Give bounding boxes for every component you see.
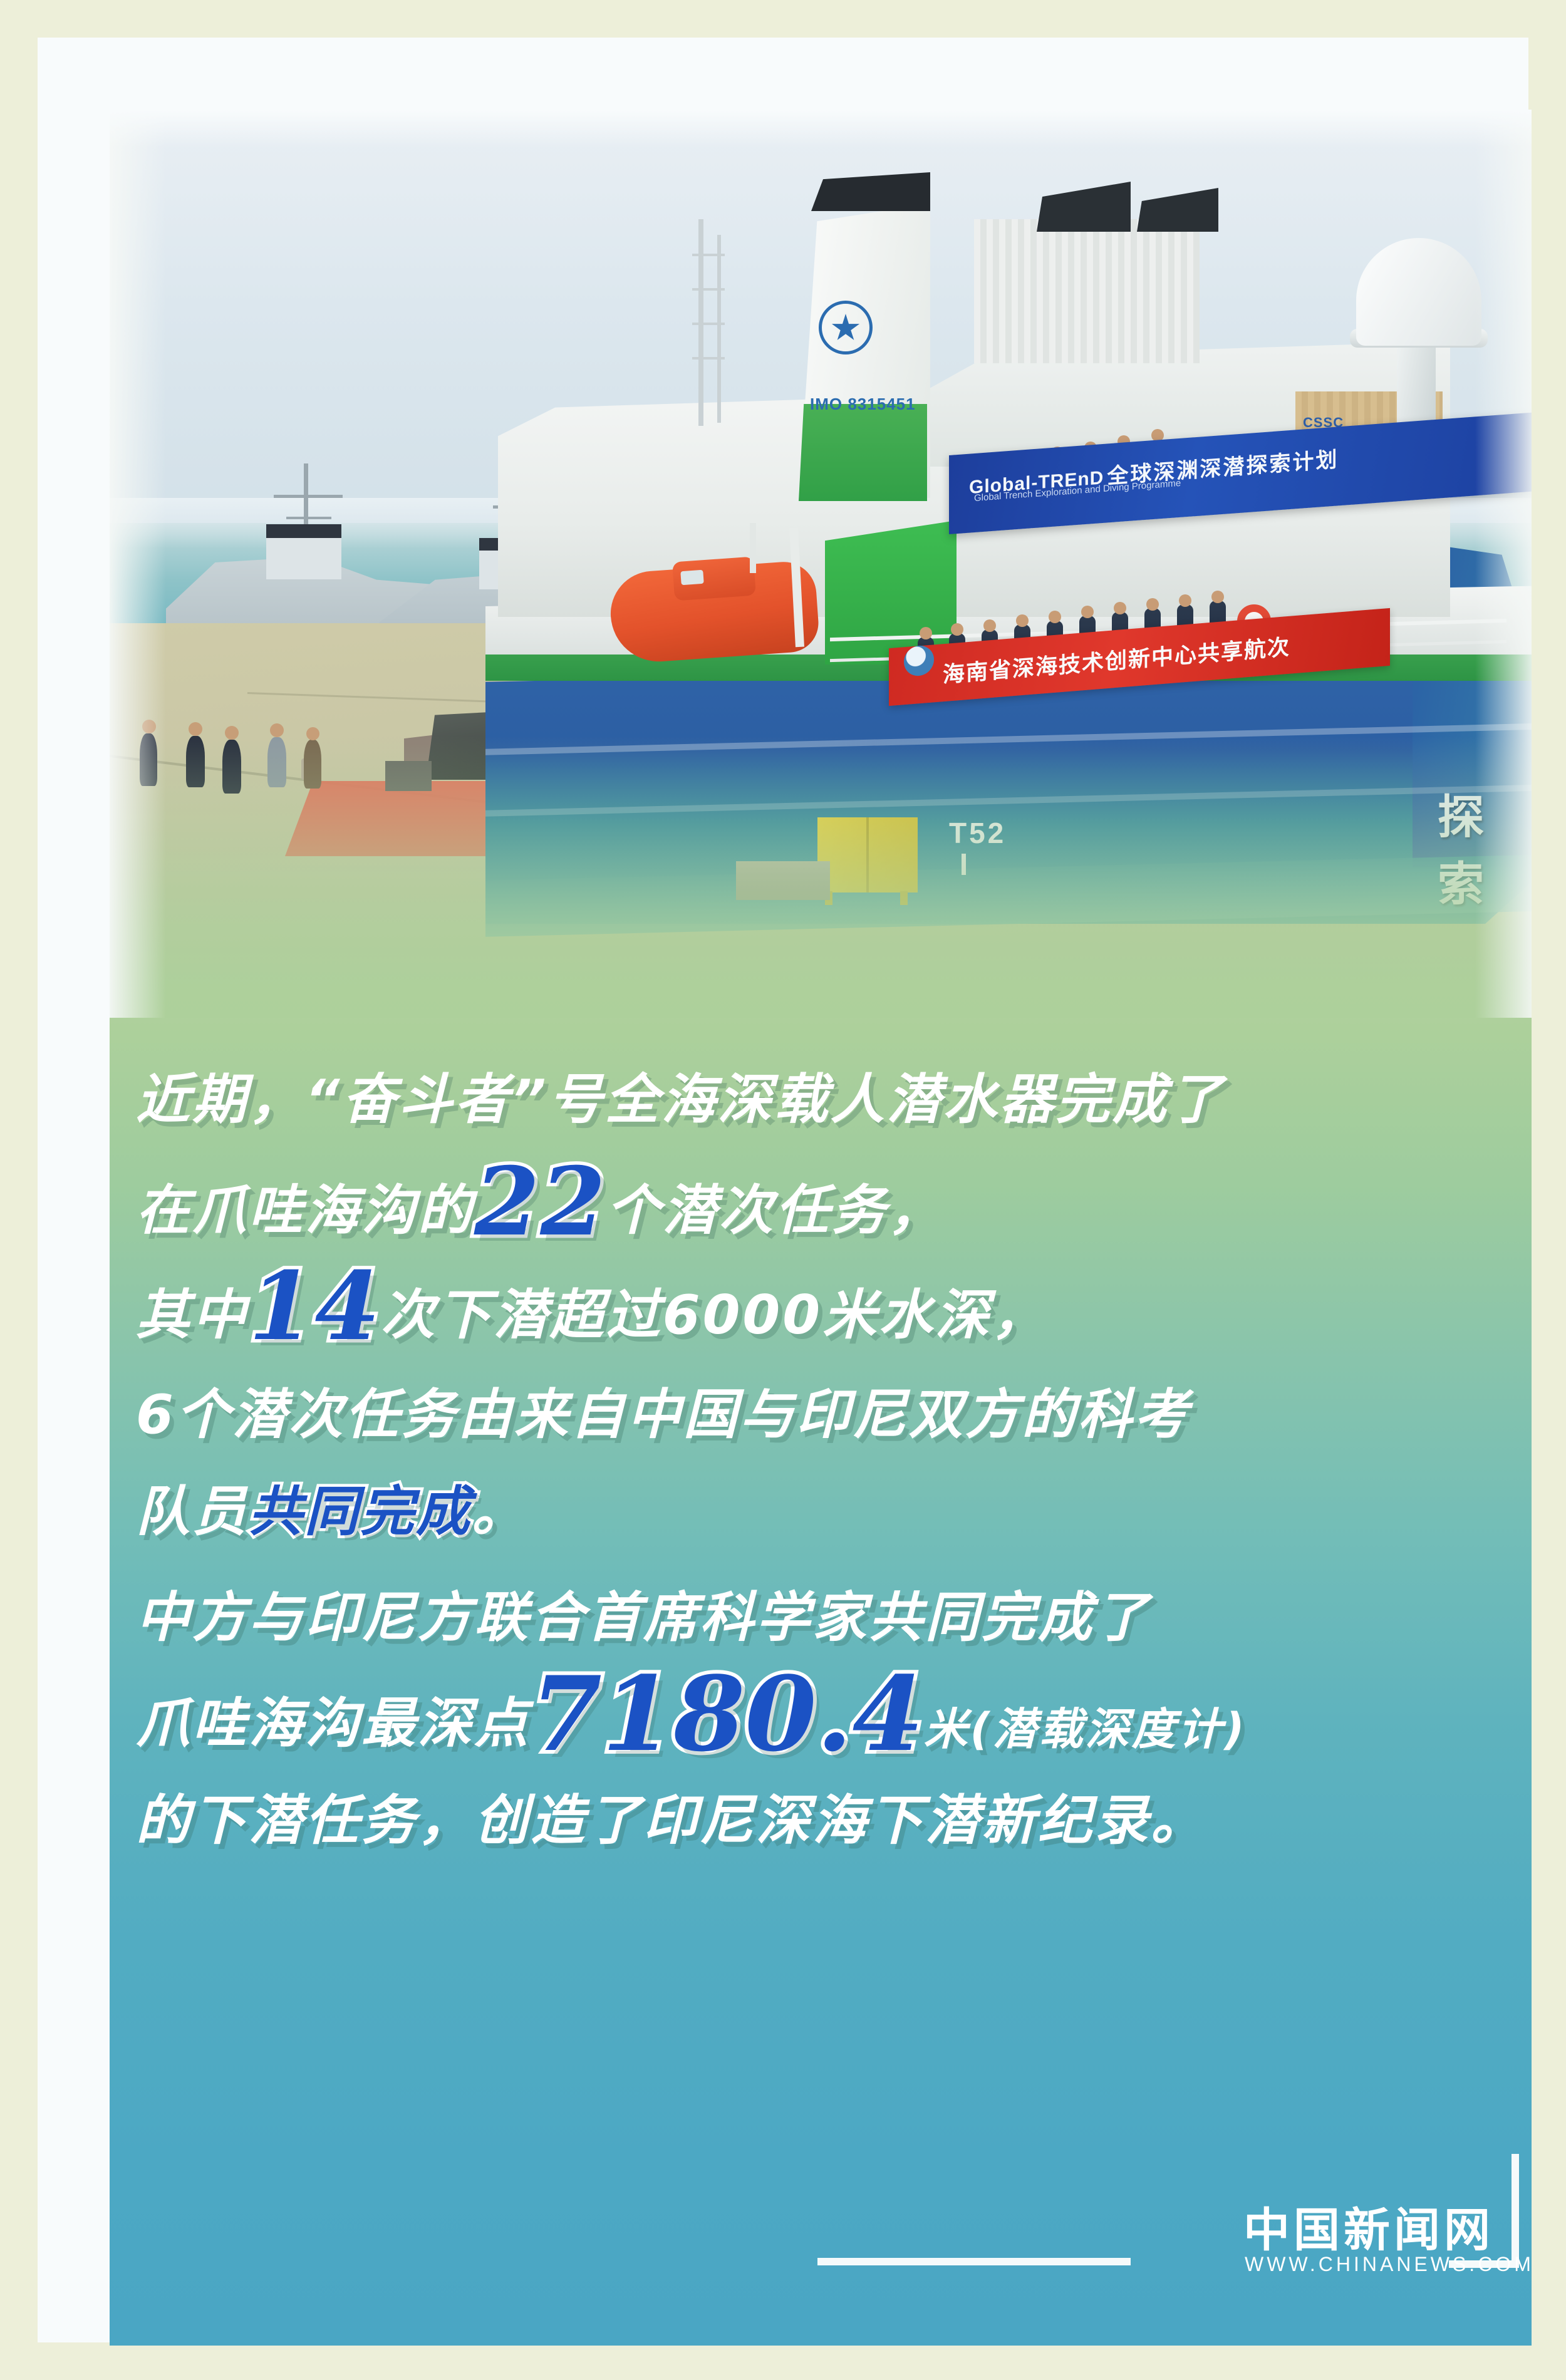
crew-head: [1016, 614, 1029, 627]
person-1-head: [189, 722, 202, 736]
logo-url: WWW.CHINANEWS.COM: [1245, 2253, 1532, 2276]
hero-photo: 探 索 T52 CSSC: [110, 110, 1532, 1018]
text-line-6: 中方与印尼方联合首席科学家共同完成了: [110, 1573, 1532, 1652]
chinanews-logo[interactable]: 中国新闻网 WWW.CHINANEWS.COM: [1168, 2183, 1519, 2302]
crew-head: [983, 619, 996, 632]
lifeboat-davit-arm: [750, 523, 756, 573]
text-line-2-prefix: 在爪哇海沟的: [136, 1166, 474, 1244]
logo-rule-left: [817, 2258, 1131, 2265]
crew-head: [1114, 602, 1126, 614]
mast-rung-4: [692, 357, 725, 360]
text-line-7: 爪哇海沟最深点 7180.4 米(潜载深度计): [110, 1670, 1532, 1757]
text-line-5-highlight: 共同完成: [249, 1467, 472, 1546]
ship-bridge-top-1: [266, 524, 341, 538]
deck-container-white: [974, 219, 1200, 363]
stat-max-depth: 7180.4: [531, 1670, 924, 1757]
ship-mast-yard-1: [274, 495, 343, 498]
superstructure-green-panel: [825, 520, 957, 665]
crew-head: [1179, 594, 1191, 607]
text-line-5: 队员 共同完成 。: [110, 1467, 1532, 1546]
poster-canvas: 探 索 T52 CSSC: [110, 110, 1532, 2346]
stat-deep-dive-count: 14: [249, 1265, 381, 1349]
ship-mast-yard-1b: [286, 517, 331, 519]
logo-rule-right-vertical: [1512, 2154, 1519, 2268]
text-line-2: 在爪哇海沟的 22 个潜次任务，: [110, 1160, 1532, 1244]
photo-right-fade: [1475, 110, 1532, 1018]
mast-rung-2: [692, 288, 725, 291]
text-line-5-suffix: 。: [472, 1467, 528, 1546]
foremast-secondary: [717, 235, 721, 423]
crew-head: [1211, 591, 1224, 603]
body-text-block: 近期，“奋斗者”号全海深载人潜水器完成了 在爪哇海沟的 22 个潜次任务， 其中…: [110, 1055, 1532, 1855]
lifeboat-window: [680, 570, 703, 585]
mast-rung-3: [692, 323, 725, 325]
stat-dive-count: 22: [474, 1160, 606, 1244]
crew-head: [1081, 606, 1094, 618]
crew-head: [951, 623, 963, 636]
logo-name: 中国新闻网: [1243, 2193, 1494, 2260]
text-line-3-suffix: 次下潜超过6000米水深，: [381, 1271, 1048, 1349]
text-line-3-prefix: 其中: [136, 1271, 249, 1349]
crew-head: [1049, 611, 1061, 623]
crew-head: [920, 627, 932, 639]
text-line-7-prefix: 爪哇海沟最深点: [136, 1679, 531, 1757]
photo-bottom-fade: [110, 736, 1532, 1018]
mast-rung-1: [692, 254, 725, 256]
hero-photo-scene: 探 索 T52 CSSC: [110, 110, 1532, 1018]
text-line-4: 6个潜次任务由来自中国与印尼双方的科考: [110, 1370, 1532, 1449]
poster-root: 探 索 T52 CSSC: [0, 0, 1566, 2380]
text-line-1: 近期，“奋斗者”号全海深载人潜水器完成了: [110, 1055, 1532, 1134]
text-line-2-suffix: 个潜次任务，: [606, 1166, 945, 1244]
text-line-5-prefix: 队员: [136, 1467, 249, 1546]
ship-funnel-green-band: [799, 404, 927, 501]
person-3-head: [270, 723, 284, 737]
photo-top-fade: [110, 110, 1532, 147]
crew-head: [1146, 598, 1159, 611]
imo-number-label: IMO 8315451: [810, 395, 916, 414]
text-line-8: 的下潜任务，创造了印尼深海下潜新纪录。: [110, 1776, 1532, 1855]
text-line-7-suffix: 米(潜载深度计): [924, 1694, 1247, 1757]
photo-left-fade: [110, 110, 166, 1018]
ship-bridge-1: [266, 535, 341, 579]
poster-white-frame: 探 索 T52 CSSC: [38, 38, 1528, 2342]
text-line-3: 其中 14 次下潜超过6000米水深，: [110, 1265, 1532, 1349]
